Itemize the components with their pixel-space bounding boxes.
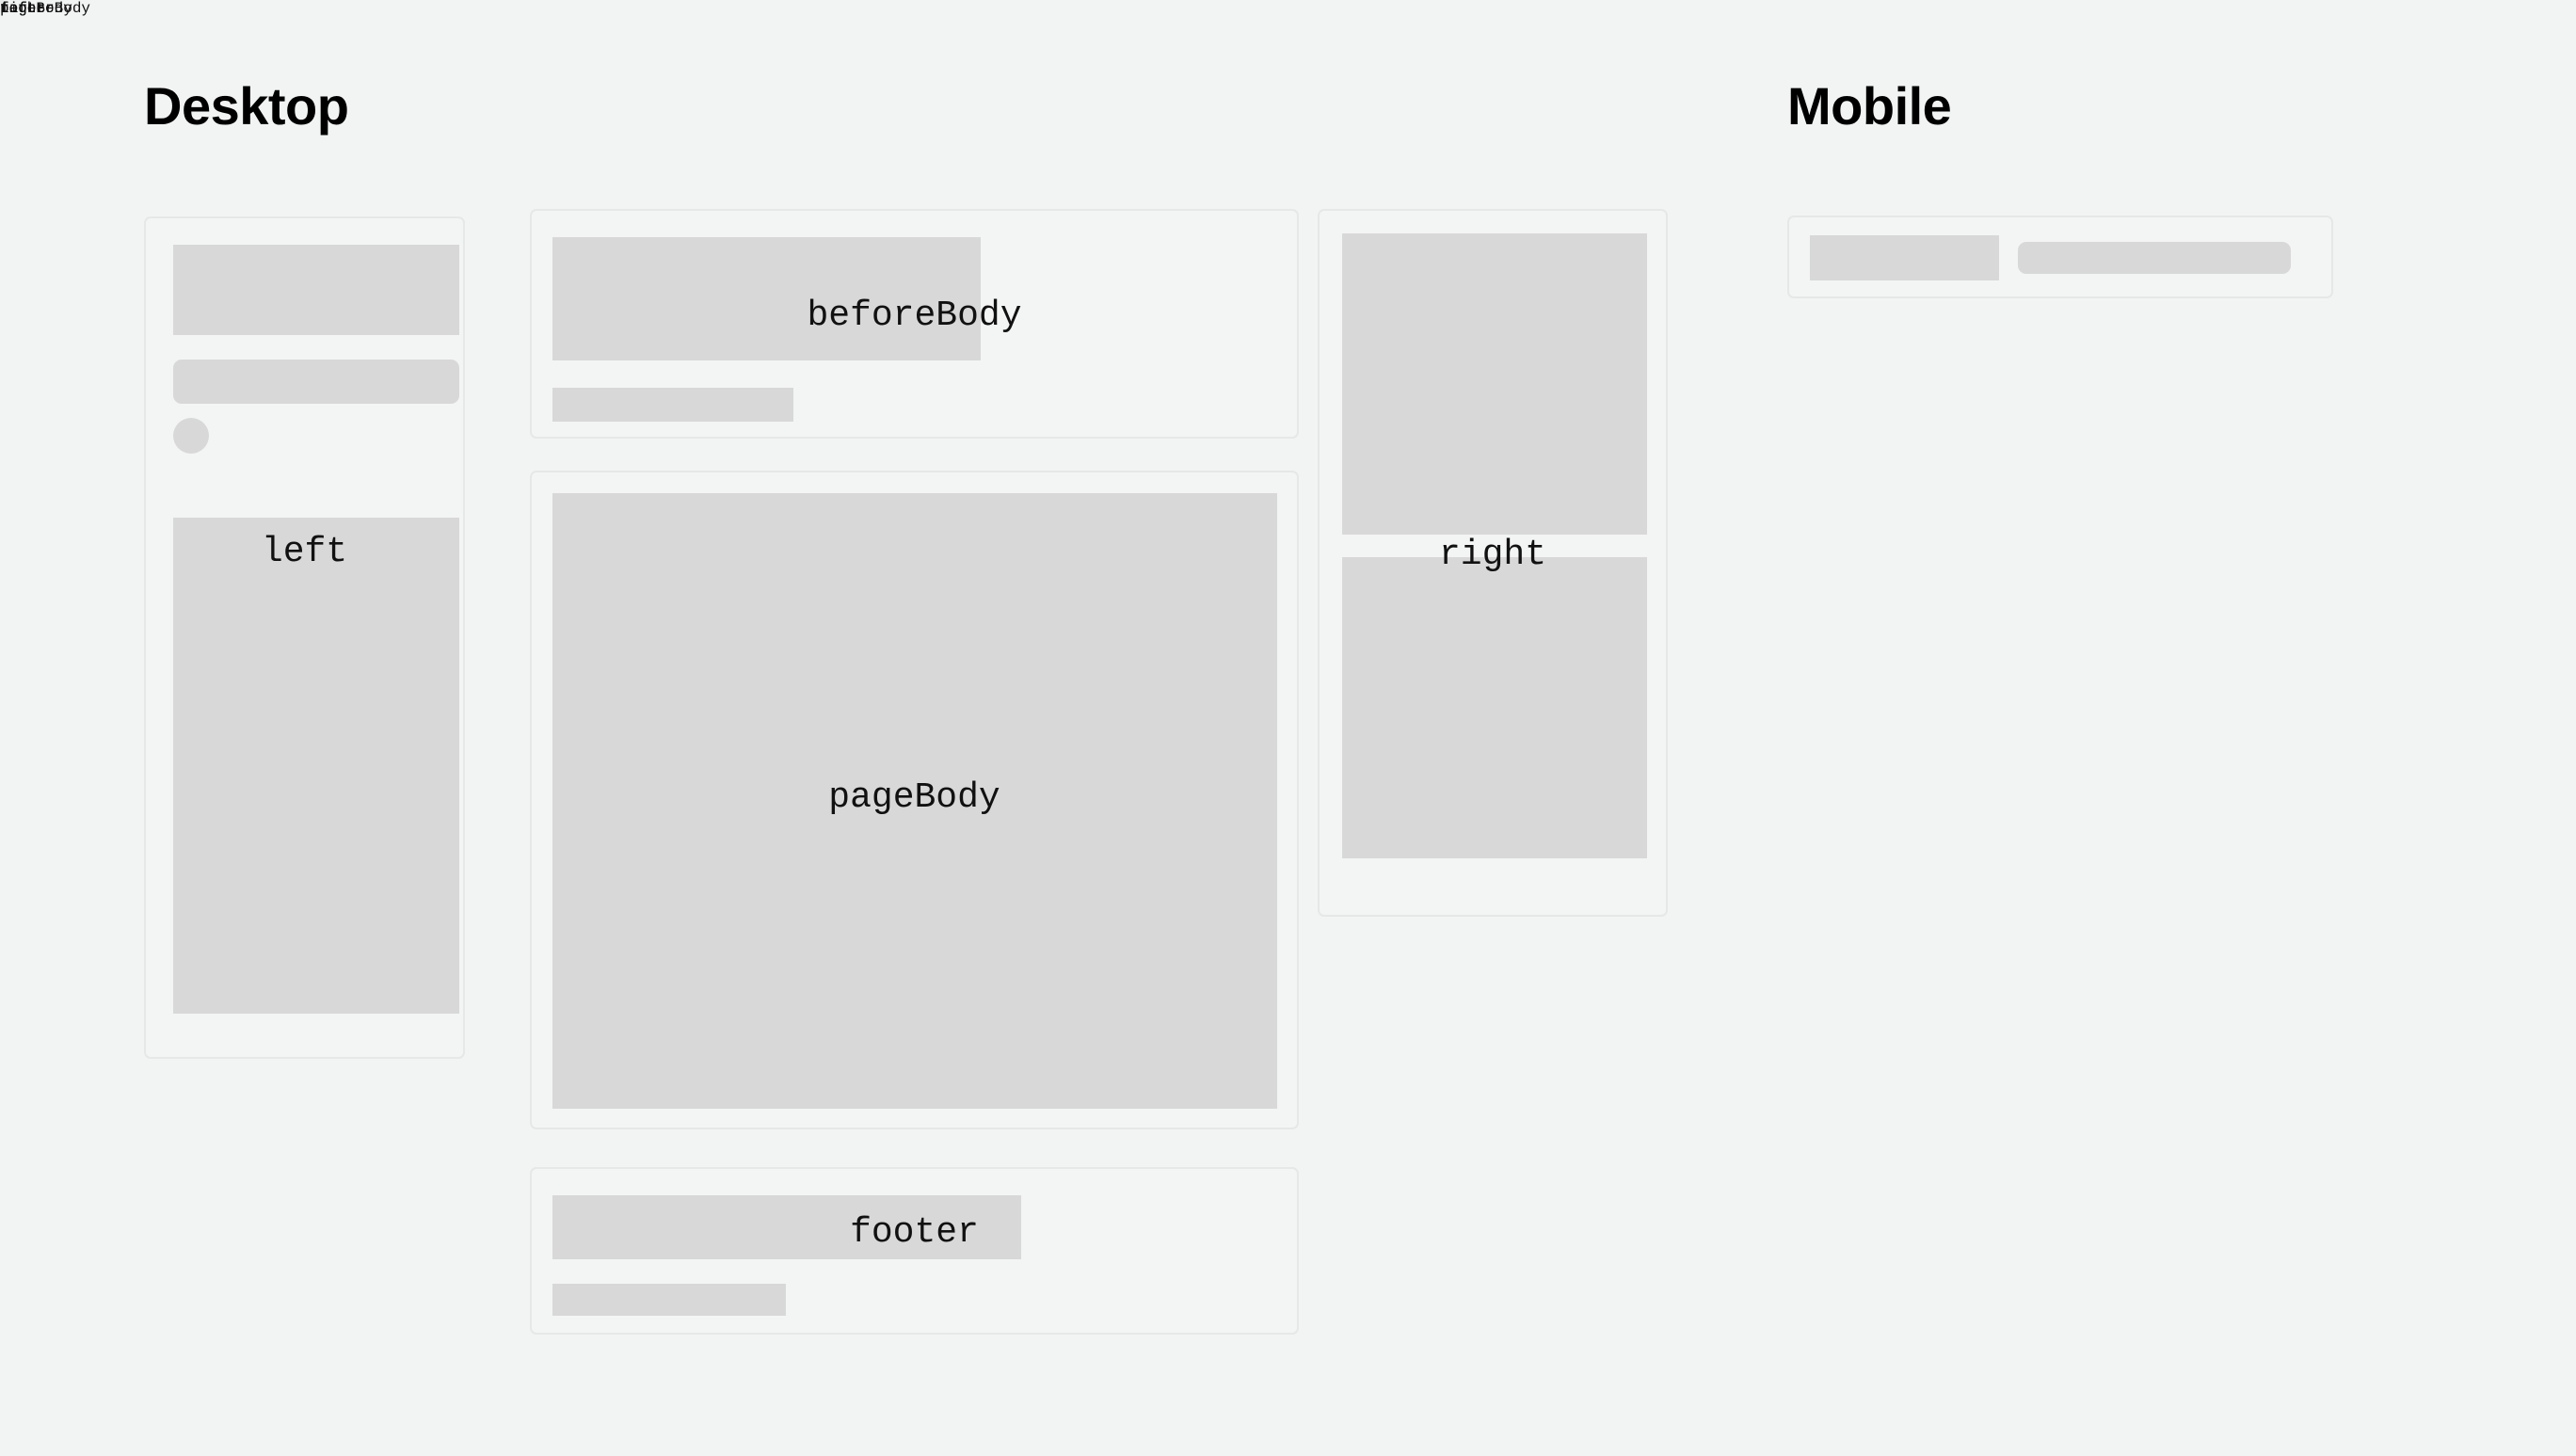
mobile-section-title: Mobile xyxy=(1787,80,1951,133)
mobile-footer-panel[interactable] xyxy=(0,0,4,4)
desktop-left-panel[interactable] xyxy=(144,216,465,1059)
placeholder-block xyxy=(1342,557,1647,858)
placeholder-block xyxy=(552,237,981,360)
placeholder-bar xyxy=(173,360,459,404)
placeholder-bar xyxy=(2018,242,2291,274)
placeholder-block xyxy=(1342,233,1647,535)
placeholder-bar xyxy=(552,388,793,422)
placeholder-bar xyxy=(552,1284,786,1316)
placeholder-block xyxy=(173,245,459,335)
mobile-slot-label-page-body: pageBody xyxy=(0,0,72,17)
placeholder-block xyxy=(1810,235,1999,280)
desktop-page-body-panel[interactable] xyxy=(530,471,1299,1129)
desktop-before-body-panel[interactable] xyxy=(530,209,1299,439)
responsive-layout-wireframe: Desktop left beforeBody pageBody footer … xyxy=(0,0,2576,1456)
mobile-left-panel[interactable] xyxy=(1787,216,2333,298)
mobile-slot-label-before-body: beforeBody xyxy=(0,0,90,17)
mobile-slot-label-left: left xyxy=(0,0,36,17)
desktop-footer-panel[interactable] xyxy=(530,1167,1299,1335)
placeholder-avatar-circle xyxy=(173,418,209,454)
placeholder-block-large xyxy=(552,493,1277,1109)
mobile-slot-label-footer: footer xyxy=(0,0,55,17)
placeholder-bar-wide xyxy=(552,1195,1021,1259)
mobile-slot-label-right: right xyxy=(0,0,45,17)
desktop-right-panel[interactable] xyxy=(1318,209,1668,917)
desktop-section-title: Desktop xyxy=(144,80,348,133)
placeholder-block-tall xyxy=(173,518,459,1014)
